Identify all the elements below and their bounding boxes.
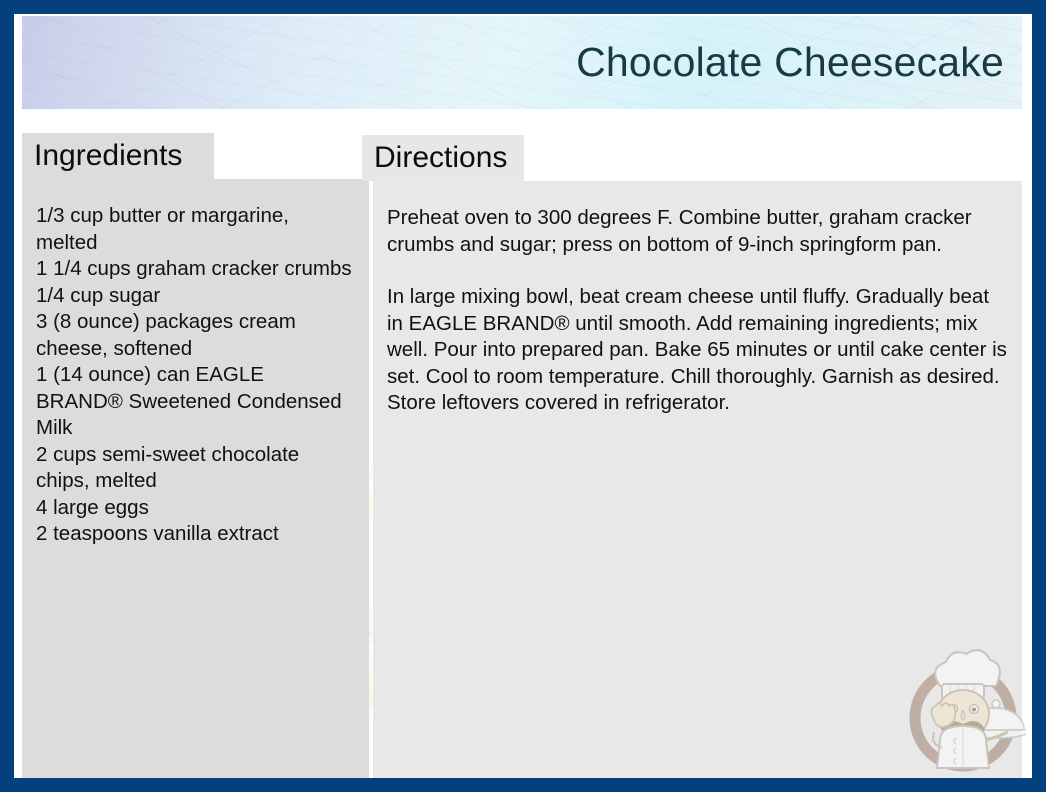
ingredients-tab[interactable]: Ingredients — [22, 133, 214, 179]
list-item: 2 cups semi-sweet chocolate chips, melte… — [36, 442, 355, 495]
list-item: 1/4 cup sugar — [36, 283, 355, 310]
directions-body: Preheat oven to 300 degrees F. Combine b… — [373, 181, 1022, 417]
ingredients-body: 1/3 cup butter or margarine, melted 1 1/… — [22, 179, 369, 548]
recipe-card: Chocolate Cheesecake — [0, 0, 1046, 792]
list-item: 4 large eggs — [36, 495, 355, 522]
title-banner: Chocolate Cheesecake — [22, 16, 1022, 109]
page-surface: Chocolate Cheesecake — [14, 14, 1032, 778]
list-item: 3 (8 ounce) packages cream cheese, softe… — [36, 309, 355, 362]
directions-heading: Directions — [374, 143, 507, 173]
ingredients-panel: 1/3 cup butter or margarine, melted 1 1/… — [22, 179, 369, 778]
page-title: Chocolate Cheesecake — [576, 39, 1022, 86]
directions-steps: Preheat oven to 300 degrees F. Combine b… — [387, 205, 1008, 417]
ingredients-list: 1/3 cup butter or margarine, melted 1 1/… — [36, 203, 355, 548]
directions-tab[interactable]: Directions — [362, 135, 524, 181]
ingredients-heading: Ingredients — [34, 141, 182, 171]
direction-step: Preheat oven to 300 degrees F. Combine b… — [387, 205, 1008, 258]
directions-panel: Preheat oven to 300 degrees F. Combine b… — [373, 181, 1022, 778]
list-item: 1/3 cup butter or margarine, melted — [36, 203, 355, 256]
list-item: 2 teaspoons vanilla extract — [36, 521, 355, 548]
list-item: 1 (14 ounce) can EAGLE BRAND® Sweetened … — [36, 362, 355, 442]
direction-step: In large mixing bowl, beat cream cheese … — [387, 284, 1008, 417]
list-item: 1 1/4 cups graham cracker crumbs — [36, 256, 355, 283]
